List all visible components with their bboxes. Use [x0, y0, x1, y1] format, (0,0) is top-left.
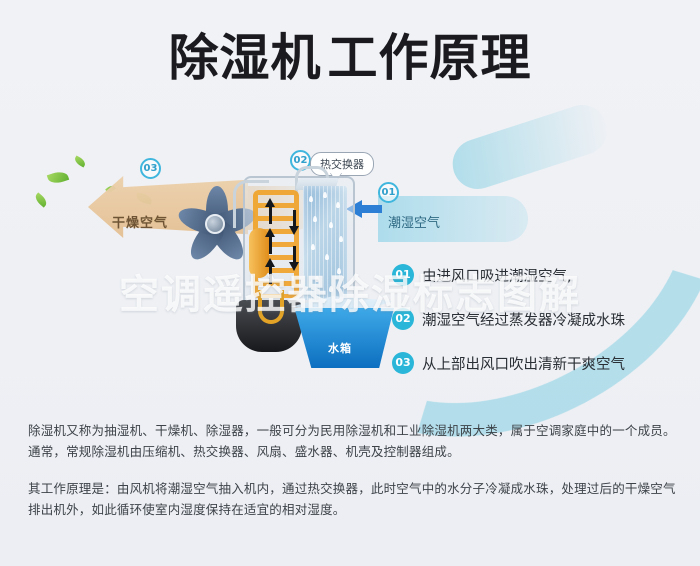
infographic-page: 除湿机工作原理 03 干燥空气 01 潮湿空气 02 热交换器 [0, 0, 700, 566]
page-title: 除湿机工作原理 [0, 28, 700, 88]
step-text-01: 由进风口吸进潮湿空气, [422, 265, 572, 286]
leaf-icon [47, 169, 69, 186]
leaf-icon [33, 192, 49, 207]
step-badge-03: 03 [392, 352, 414, 374]
step-item: 03 从上部出风口吹出清新干爽空气 [392, 344, 692, 382]
step-item: 01 由进风口吸进潮湿空气, [392, 256, 692, 294]
page-title-part2: 工作原理 [328, 29, 532, 87]
step-text-02: 潮湿空气经过蒸发器冷凝成水珠 [422, 309, 625, 330]
step-text-03: 从上部出风口吹出清新干爽空气 [422, 353, 625, 374]
flow-arrow-up-icon [265, 228, 275, 237]
step-badge-01: 01 [392, 264, 414, 286]
flow-arrow-down-icon [289, 262, 299, 271]
flow-arrow-shaft [293, 246, 296, 262]
page-title-part1: 除湿机 [169, 29, 322, 87]
flow-arrow-shaft [269, 236, 272, 254]
humid-air-label: 潮湿空气 [388, 212, 440, 231]
blue-swoosh-fade-decoration [446, 99, 614, 196]
compressor-pipe [258, 290, 284, 324]
flow-arrow-shaft [269, 206, 272, 224]
diagram-chip-01: 01 [378, 182, 399, 203]
flow-arrow-shaft [269, 266, 272, 284]
flow-arrow-down-icon [289, 226, 299, 235]
fan-hub [205, 214, 225, 234]
intake-arrow-bar [360, 205, 382, 213]
flow-arrow-shaft [293, 210, 296, 226]
flow-arrow-up-icon [265, 198, 275, 207]
leaf-icon [73, 155, 87, 167]
evaporator-block [303, 186, 347, 300]
step-badge-02: 02 [392, 308, 414, 330]
flow-arrow-up-icon [265, 258, 275, 267]
water-tank-body [288, 308, 394, 368]
water-tank-label: 水箱 [328, 340, 352, 356]
body-paragraph-2: 其工作原理是：由风机将潮湿空气抽入机内，通过热交换器，此时空气中的水分子冷凝成水… [28, 478, 678, 520]
body-copy: 除湿机又称为抽湿机、干燥机、除湿器，一般可分为民用除湿机和工业除湿机两大类，属于… [28, 420, 678, 520]
body-paragraph-1: 除湿机又称为抽湿机、干燥机、除湿器，一般可分为民用除湿机和工业除湿机两大类，属于… [28, 420, 678, 462]
dry-air-label: 干燥空气 [112, 212, 168, 231]
diagram-chip-03: 03 [140, 158, 161, 179]
steps-list: 01 由进风口吸进潮湿空气, 02 潮湿空气经过蒸发器冷凝成水珠 03 从上部出… [392, 256, 692, 388]
step-item: 02 潮湿空气经过蒸发器冷凝成水珠 [392, 300, 692, 338]
